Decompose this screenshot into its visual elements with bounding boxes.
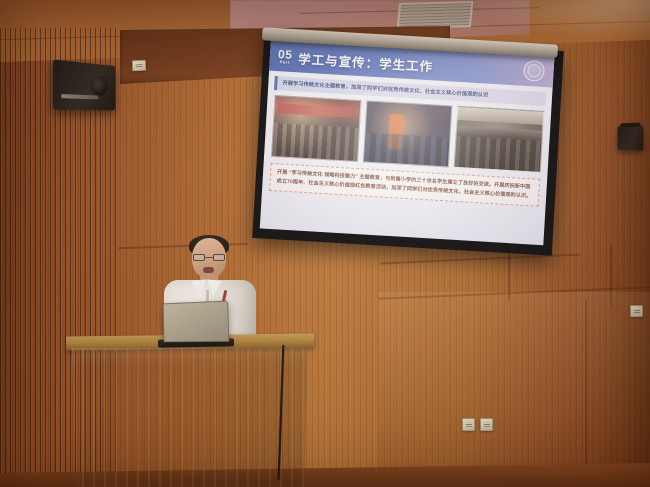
wall-outlet-plate[interactable] xyxy=(462,418,475,431)
podium-shading xyxy=(70,348,310,487)
slide-body-text: 开展 "学习传统文化 领略科技魅力" 主题教育，与附属小学的三十余名学生建立了良… xyxy=(276,168,533,201)
section-part-label: Part xyxy=(280,60,290,65)
outlet-slots-icon xyxy=(483,422,489,426)
lens-left xyxy=(193,254,205,261)
wall-outlet-plate[interactable] xyxy=(132,60,146,71)
projection-screen[interactable]: 05 Part 学工与宣传：学生工作 开展学习传统文化主题教育，加深了同学们对优… xyxy=(252,33,564,255)
wooden-podium xyxy=(66,335,314,487)
slide-photo-row xyxy=(271,95,544,173)
wall-panel-seam xyxy=(508,252,510,300)
presenter-laptop[interactable] xyxy=(162,302,228,342)
slide-photo-2 xyxy=(363,101,453,168)
laptop-lid xyxy=(163,301,230,343)
wall-outlet-plate[interactable] xyxy=(480,418,493,431)
wall-panel-seam xyxy=(610,246,612,306)
university-emblem-watermark-icon xyxy=(523,60,545,82)
slide-photo-1 xyxy=(271,95,361,162)
wall-panel-seam xyxy=(585,300,587,470)
wall-speaker-right-icon xyxy=(617,126,643,151)
outlet-slots-icon xyxy=(136,64,143,68)
ceiling-glare xyxy=(470,0,650,40)
slide-section-number: 05 Part xyxy=(278,48,293,65)
lecture-hall-photo: 05 Part 学工与宣传：学生工作 开展学习传统文化主题教育，加深了同学们对优… xyxy=(0,0,650,487)
outlet-slots-icon xyxy=(465,422,471,426)
hvac-vent-grille-icon xyxy=(397,1,474,29)
presentation-slide: 05 Part 学工与宣传：学生工作 开展学习传统文化主题教育，加深了同学们对优… xyxy=(260,41,555,246)
outlet-slots-icon xyxy=(633,309,639,313)
wall-speaker-left-icon xyxy=(53,60,115,111)
speaker-port xyxy=(61,94,98,99)
eyeglasses-icon xyxy=(193,254,225,261)
slide-title: 学工与宣传：学生工作 xyxy=(298,48,434,75)
presenter-mouth xyxy=(203,267,214,273)
wall-outlet-plate[interactable] xyxy=(630,305,643,317)
lens-right xyxy=(213,254,225,261)
slide-photo-3 xyxy=(454,106,544,173)
